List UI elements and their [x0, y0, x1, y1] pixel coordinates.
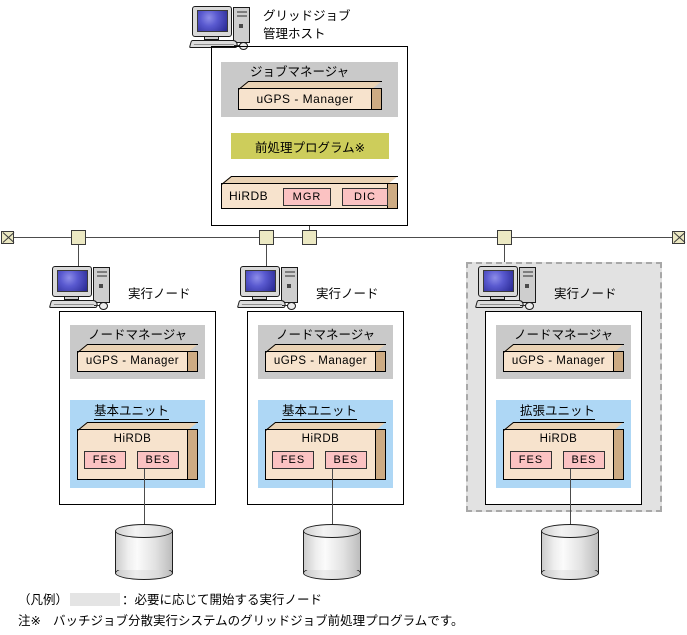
node3-manager-label: ノードマネージャ — [514, 329, 613, 342]
legend-description: 必要に応じて開始する実行ノード — [135, 593, 323, 607]
module-mgr: MGR — [283, 188, 331, 206]
node2-fes: FES — [272, 451, 314, 469]
node2-hirdb-label: HiRDB — [302, 434, 340, 446]
node3-hirdb-box: HiRDB FES BES — [503, 422, 624, 480]
node3-unit-label: 拡張ユニット — [520, 405, 595, 420]
node3-ugps-box: uGPS - Manager — [503, 344, 624, 372]
node3-ugps-label: uGPS - Manager — [512, 356, 605, 368]
module-dic: DIC — [342, 188, 388, 206]
node1-fes: FES — [84, 451, 126, 469]
node3-storage-link — [570, 469, 571, 525]
job-manager-label: ジョブマネージャ — [250, 66, 349, 79]
ugps-manager-label: uGPS - Manager — [256, 93, 353, 105]
node1-bes: BES — [137, 451, 179, 469]
node1-bus-drop — [78, 245, 79, 267]
node3-hirdb-label: HiRDB — [540, 434, 578, 446]
ugps-manager-box: uGPS - Manager — [238, 81, 382, 110]
node2-bes: BES — [325, 451, 367, 469]
footnote: 注※バッチジョブ分散実行システムのグリッドジョブ前処理プログラムです。 — [18, 613, 464, 629]
node1-storage-link — [144, 469, 145, 525]
node1-database-cylinder-icon — [115, 524, 173, 580]
node2-computer-icon — [240, 266, 302, 312]
legend-swatch — [70, 593, 120, 606]
node2-storage-link — [332, 469, 333, 525]
node3-bes: BES — [563, 451, 605, 469]
manager-hirdb-label: HiRDB — [229, 190, 268, 202]
footnote-text: バッチジョブ分散実行システムのグリッドジョブ前処理プログラムです。 — [53, 614, 464, 628]
node1-ugps-label: uGPS - Manager — [86, 356, 179, 368]
legend: （凡例）：必要に応じて開始する実行ノード — [18, 592, 322, 608]
manager-hirdb-box: HiRDB MGR DIC — [221, 176, 398, 209]
node2-ugps-label: uGPS - Manager — [274, 356, 367, 368]
node2-database-cylinder-icon — [303, 524, 361, 580]
bus-terminator-right-icon — [672, 231, 685, 244]
node2-unit-label: 基本ユニット — [282, 405, 357, 420]
node1-hirdb-label: HiRDB — [114, 434, 152, 446]
footnote-marker: 注※ — [18, 614, 41, 628]
node2-ugps-box: uGPS - Manager — [265, 344, 386, 372]
monitor-screen — [197, 10, 228, 32]
node3-fes: FES — [510, 451, 552, 469]
node1-caption: 実行ノード — [128, 286, 191, 303]
bus-terminator-left-icon — [1, 231, 14, 244]
node1-ugps-box: uGPS - Manager — [77, 344, 198, 372]
node2-manager-label: ノードマネージャ — [276, 329, 375, 342]
node1-manager-label: ノードマネージャ — [88, 329, 187, 342]
node1-computer-icon — [52, 266, 114, 312]
node3-database-cylinder-icon — [541, 524, 599, 580]
bus-tap-node1 — [71, 230, 86, 245]
node3-computer-icon — [478, 266, 540, 312]
node2-hirdb-box: HiRDB FES BES — [265, 422, 386, 480]
network-bus-line — [8, 237, 680, 238]
node1-unit-label: 基本ユニット — [94, 405, 169, 420]
bus-tap-host — [302, 230, 317, 245]
legend-separator: ： — [122, 593, 135, 607]
manager-host-caption-line2: 管理ホスト — [263, 26, 326, 43]
pre-process-program-label: 前処理プログラム※ — [255, 137, 365, 156]
legend-prefix: （凡例） — [18, 593, 68, 607]
manager-host-caption-line1: グリッドジョブ — [263, 8, 351, 25]
bus-tap-node3 — [497, 230, 512, 245]
bus-tap-node2 — [259, 230, 274, 245]
node3-caption: 実行ノード — [554, 286, 617, 303]
node2-bus-drop — [266, 245, 267, 267]
node1-hirdb-box: HiRDB FES BES — [77, 422, 198, 480]
node2-caption: 実行ノード — [316, 286, 379, 303]
pre-process-program-box: 前処理プログラム※ — [231, 133, 389, 159]
